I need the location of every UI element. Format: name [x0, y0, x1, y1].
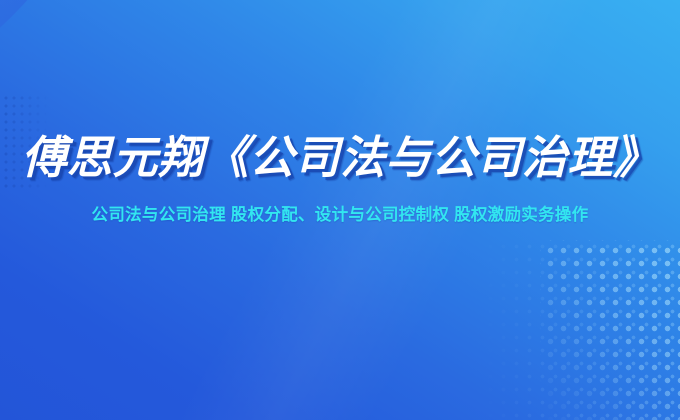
banner-subtitle: 公司法与公司治理 股权分配、设计与公司控制权 股权激励实务操作 — [0, 204, 680, 226]
right-dot-pattern-decoration — [540, 240, 680, 420]
banner-title: 傅思元翔《公司法与公司治理》 — [0, 131, 680, 185]
banner-text-block: 傅思元翔《公司法与公司治理》 公司法与公司治理 股权分配、设计与公司控制权 股权… — [0, 131, 680, 226]
course-banner: 傅思元翔《公司法与公司治理》 公司法与公司治理 股权分配、设计与公司控制权 股权… — [0, 0, 680, 420]
